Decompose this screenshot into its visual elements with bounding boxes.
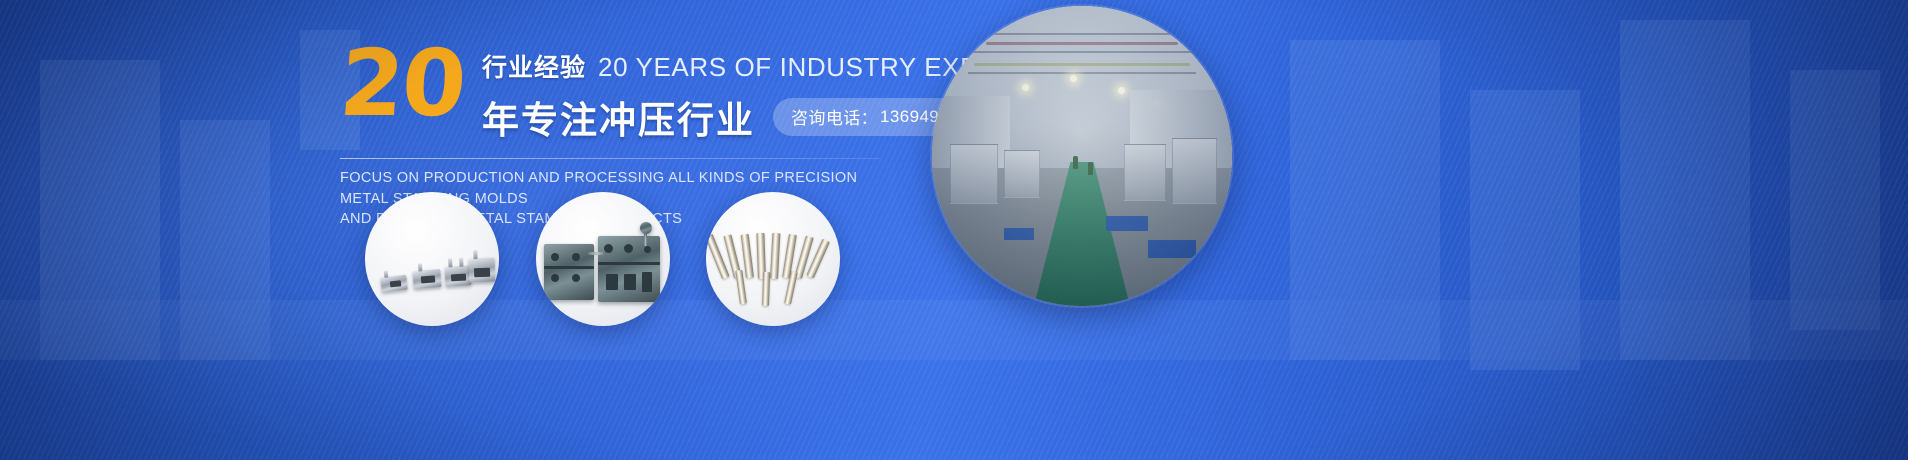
promo-banner: 20 行业经验 20 YEARS OF INDUSTRY EXPERIENCE … [0, 0, 1908, 460]
vignette-overlay [0, 0, 1908, 460]
